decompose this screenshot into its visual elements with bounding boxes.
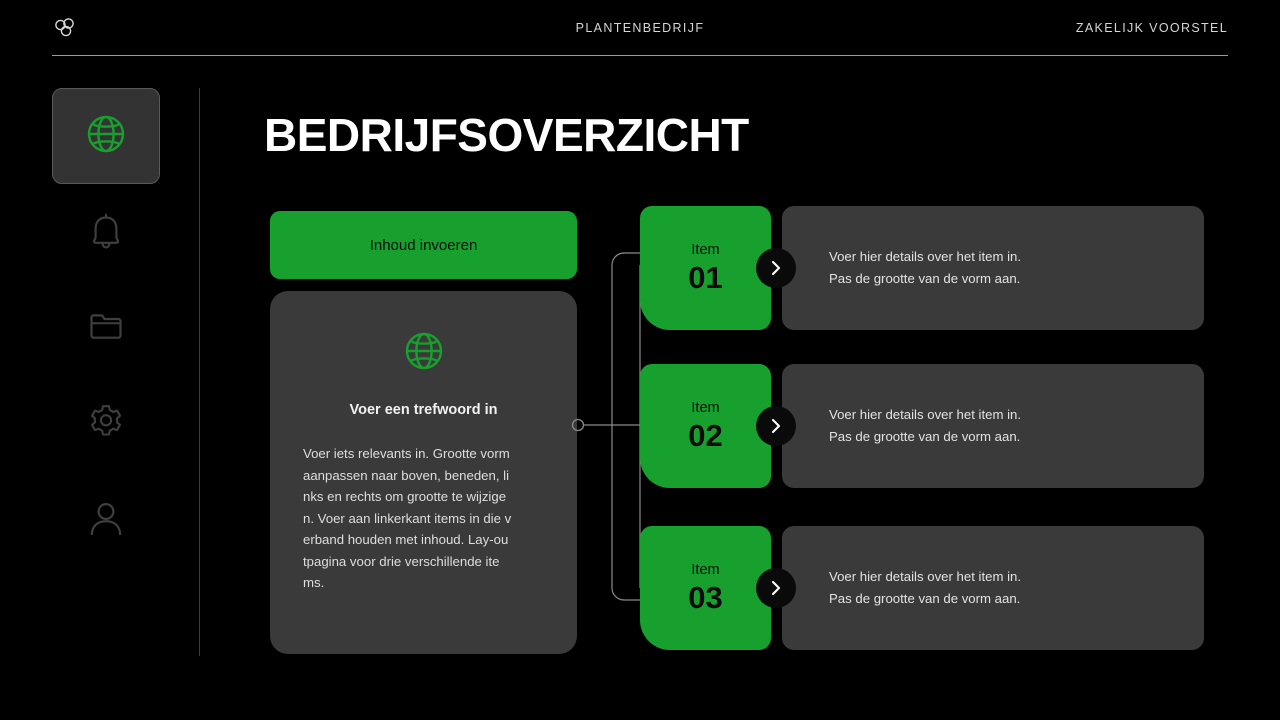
item-chip[interactable]: Item 01: [640, 206, 771, 330]
page-title: BEDRIJFSOVERZICHT: [264, 110, 749, 161]
item-chip-label: Item: [691, 241, 719, 259]
item-row[interactable]: Item 03 Voer hier details over het item …: [640, 526, 1204, 650]
item-chip-label: Item: [691, 561, 719, 579]
item-chip-number: 01: [688, 260, 722, 296]
header-company-title: PLANTENBEDRIJF: [52, 21, 1228, 35]
header-document-type: ZAKELIJK VOORSTEL: [1076, 21, 1228, 35]
top-header-bar: PLANTENBEDRIJF ZAKELIJK VOORSTEL: [52, 0, 1228, 56]
bell-icon: [83, 207, 129, 258]
enter-content-button-label: Inhoud invoeren: [370, 237, 478, 254]
user-icon: [83, 495, 129, 546]
info-card-body-text: Voer iets relevants in. Grootte vorm aan…: [303, 443, 544, 594]
item-detail-line-2: Pas de grootte van de vorm aan.: [829, 268, 1204, 290]
item-chip-number: 03: [688, 580, 722, 616]
item-row[interactable]: Item 02 Voer hier details over het item …: [640, 364, 1204, 488]
item-chip-label: Item: [691, 399, 719, 417]
item-chip[interactable]: Item 03: [640, 526, 771, 650]
info-card-title: Voer een trefwoord in: [350, 402, 498, 418]
gear-icon: [83, 399, 129, 450]
sidebar-vertical-divider: [199, 88, 200, 656]
globe-icon: [82, 110, 130, 163]
chevron-right-icon[interactable]: [756, 568, 796, 608]
header-divider-rule: [52, 55, 1228, 56]
item-detail-line-2: Pas de grootte van de vorm aan.: [829, 426, 1204, 448]
sidebar-item-globe[interactable]: [52, 88, 160, 184]
chevron-right-icon[interactable]: [756, 406, 796, 446]
item-detail-card[interactable]: Voer hier details over het item in. Pas …: [782, 526, 1204, 650]
sidebar-item-account[interactable]: [52, 472, 160, 568]
sidebar-item-files[interactable]: [52, 280, 160, 376]
item-detail-line-1: Voer hier details over het item in.: [829, 404, 1204, 426]
chevron-right-icon[interactable]: [756, 248, 796, 288]
item-detail-card[interactable]: Voer hier details over het item in. Pas …: [782, 364, 1204, 488]
slide-root: PLANTENBEDRIJF ZAKELIJK VOORSTEL: [0, 0, 1280, 720]
sidebar-item-notifications[interactable]: [52, 184, 160, 280]
item-chip[interactable]: Item 02: [640, 364, 771, 488]
item-detail-line-2: Pas de grootte van de vorm aan.: [829, 588, 1204, 610]
item-chip-number: 02: [688, 418, 722, 454]
item-row[interactable]: Item 01 Voer hier details over het item …: [640, 206, 1204, 330]
item-detail-card[interactable]: Voer hier details over het item in. Pas …: [782, 206, 1204, 330]
sidebar-item-settings[interactable]: [52, 376, 160, 472]
keyword-info-card[interactable]: Voer een trefwoord in Voer iets relevant…: [270, 291, 577, 654]
globe-icon: [400, 327, 448, 380]
left-sidebar-nav: [52, 88, 160, 658]
enter-content-button[interactable]: Inhoud invoeren: [270, 211, 577, 279]
item-detail-line-1: Voer hier details over het item in.: [829, 566, 1204, 588]
folder-icon: [83, 303, 129, 354]
item-detail-line-1: Voer hier details over het item in.: [829, 246, 1204, 268]
